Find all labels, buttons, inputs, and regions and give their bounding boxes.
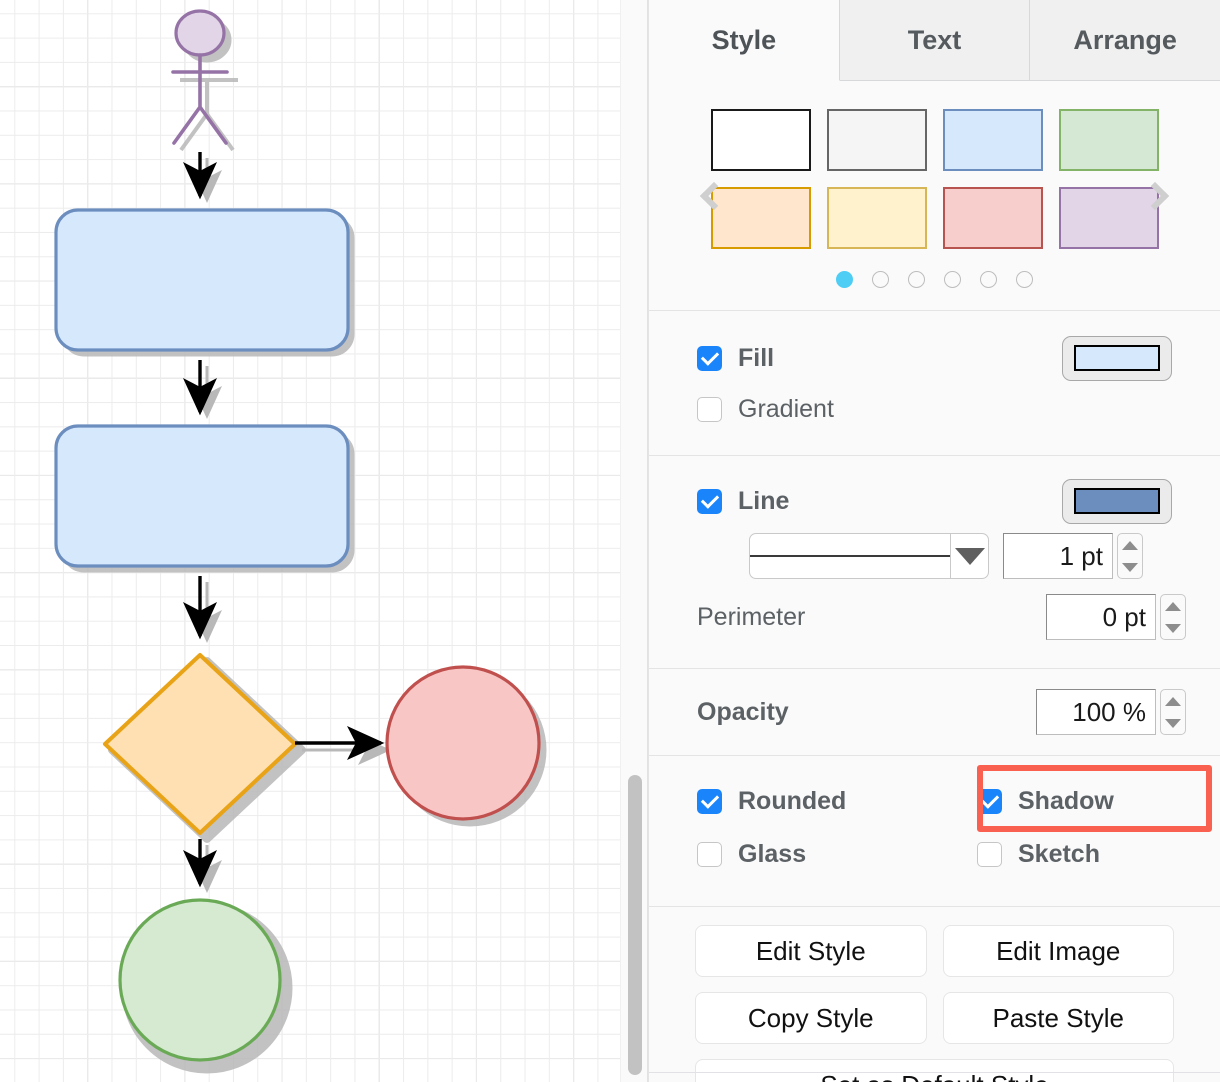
sketch-checkbox[interactable]: Sketch <box>977 840 1100 869</box>
panel-bottom-divider <box>649 1072 1220 1073</box>
sketch-label: Sketch <box>1018 840 1100 869</box>
glass-label: Glass <box>738 840 806 869</box>
gradient-checkbox-box <box>697 397 722 422</box>
line-style-row: 1 pt <box>697 526 1186 586</box>
diagram-canvas[interactable] <box>0 0 620 1082</box>
palette-swatch-6[interactable] <box>827 187 927 249</box>
fill-label: Fill <box>738 344 774 373</box>
perimeter-stepper[interactable] <box>1160 594 1186 640</box>
shadow-label: Shadow <box>1018 787 1114 816</box>
line-label: Line <box>738 487 789 516</box>
palette-page-dot-3[interactable] <box>908 271 925 288</box>
perimeter-label: Perimeter <box>697 603 805 632</box>
opacity-label: Opacity <box>697 698 789 727</box>
toggles-row-2: Glass Sketch <box>697 824 1172 884</box>
toggles-row-1: Rounded Shadow <box>697 778 1172 824</box>
copy-style-button[interactable]: Copy Style <box>695 992 927 1044</box>
line-style-select[interactable] <box>749 533 989 579</box>
fill-section: Fill Gradient <box>649 311 1220 456</box>
stepper-down-icon[interactable] <box>1165 624 1181 633</box>
shape-process-2[interactable] <box>56 426 348 566</box>
paste-style-button[interactable]: Paste Style <box>943 992 1175 1044</box>
rounded-label: Rounded <box>738 787 846 816</box>
palette-page-dot-1[interactable] <box>836 271 853 288</box>
vertical-scrollbar[interactable] <box>620 0 648 1082</box>
palette-page-dot-4[interactable] <box>944 271 961 288</box>
palette-page-dot-5[interactable] <box>980 271 997 288</box>
chevron-down-icon[interactable] <box>950 534 988 578</box>
effects-section: Rounded Shadow Glass Sketch <box>649 756 1220 907</box>
palette-swatch-1[interactable] <box>711 109 811 171</box>
style-palette-section <box>649 81 1220 311</box>
glass-checkbox[interactable]: Glass <box>697 840 977 869</box>
fill-row: Fill <box>697 333 1172 383</box>
shape-green-circle[interactable] <box>120 900 280 1060</box>
edit-style-button[interactable]: Edit Style <box>695 925 927 977</box>
perimeter-row: Perimeter 0 pt <box>697 586 1186 648</box>
tab-arrange[interactable]: Arrange <box>1030 0 1220 81</box>
shadow-checkbox[interactable]: Shadow <box>977 787 1114 816</box>
line-style-preview <box>750 534 950 578</box>
chevron-left-icon[interactable] <box>697 173 731 219</box>
opacity-row: Opacity 100 % <box>697 685 1186 739</box>
fill-color-chip <box>1074 345 1160 371</box>
palette-swatch-grid <box>649 109 1220 249</box>
line-width-input[interactable]: 1 pt <box>1003 533 1113 579</box>
fill-checkbox-box <box>697 346 722 371</box>
palette-pagination <box>649 271 1220 288</box>
glass-checkbox-box <box>697 842 722 867</box>
stepper-up-icon[interactable] <box>1165 697 1181 706</box>
fill-color-button[interactable] <box>1062 336 1172 381</box>
stepper-down-icon[interactable] <box>1165 719 1181 728</box>
sketch-checkbox-box <box>977 842 1002 867</box>
format-tab-bar: Style Text Arrange <box>649 0 1220 81</box>
palette-swatch-4[interactable] <box>1059 109 1159 171</box>
stepper-up-icon[interactable] <box>1122 541 1138 550</box>
stepper-down-icon[interactable] <box>1122 563 1138 572</box>
gradient-label: Gradient <box>738 395 834 424</box>
stepper-up-icon[interactable] <box>1165 602 1181 611</box>
palette-swatch-7[interactable] <box>943 187 1043 249</box>
palette-swatch-3[interactable] <box>943 109 1043 171</box>
diagram-editor-window: Style Text Arrange <box>0 0 1220 1082</box>
perimeter-input[interactable]: 0 pt <box>1046 594 1156 640</box>
tab-style[interactable]: Style <box>649 0 840 81</box>
set-default-style-button[interactable]: Set as Default Style <box>695 1059 1174 1082</box>
shape-red-circle[interactable] <box>387 667 539 819</box>
tab-text[interactable]: Text <box>840 0 1031 81</box>
gradient-row: Gradient <box>697 383 1172 435</box>
chevron-right-icon[interactable] <box>1138 173 1172 219</box>
gradient-checkbox[interactable]: Gradient <box>697 395 834 424</box>
line-width-stepper[interactable] <box>1117 533 1143 579</box>
opacity-stepper[interactable] <box>1160 689 1186 735</box>
tab-text-label: Text <box>908 25 962 56</box>
rounded-checkbox[interactable]: Rounded <box>697 787 977 816</box>
edit-image-button[interactable]: Edit Image <box>943 925 1175 977</box>
palette-page-dot-6[interactable] <box>1016 271 1033 288</box>
style-actions-section: Edit Style Edit Image Copy Style Paste S… <box>649 907 1220 1082</box>
shape-process-1[interactable] <box>56 210 348 350</box>
line-color-button[interactable] <box>1062 479 1172 524</box>
tab-style-label: Style <box>712 25 777 56</box>
style-actions-row-1: Edit Style Edit Image <box>695 925 1174 977</box>
diagram-svg <box>0 0 620 1082</box>
format-panel: Style Text Arrange <box>648 0 1220 1082</box>
tab-arrange-label: Arrange <box>1073 25 1177 56</box>
opacity-input[interactable]: 100 % <box>1036 689 1156 735</box>
shadow-checkbox-box <box>977 789 1002 814</box>
rounded-checkbox-box <box>697 789 722 814</box>
line-section: Line 1 pt Perimeter 0 pt <box>649 456 1220 669</box>
line-checkbox[interactable]: Line <box>697 487 789 516</box>
fill-checkbox[interactable]: Fill <box>697 344 774 373</box>
palette-page-dot-2[interactable] <box>872 271 889 288</box>
line-color-chip <box>1074 488 1160 514</box>
shape-decision-diamond[interactable] <box>105 655 295 833</box>
line-row: Line <box>697 476 1186 526</box>
line-checkbox-box <box>697 489 722 514</box>
style-actions-row-2: Copy Style Paste Style <box>695 992 1174 1044</box>
vertical-scrollbar-thumb[interactable] <box>628 775 642 1075</box>
opacity-section: Opacity 100 % <box>649 669 1220 756</box>
palette-swatch-2[interactable] <box>827 109 927 171</box>
